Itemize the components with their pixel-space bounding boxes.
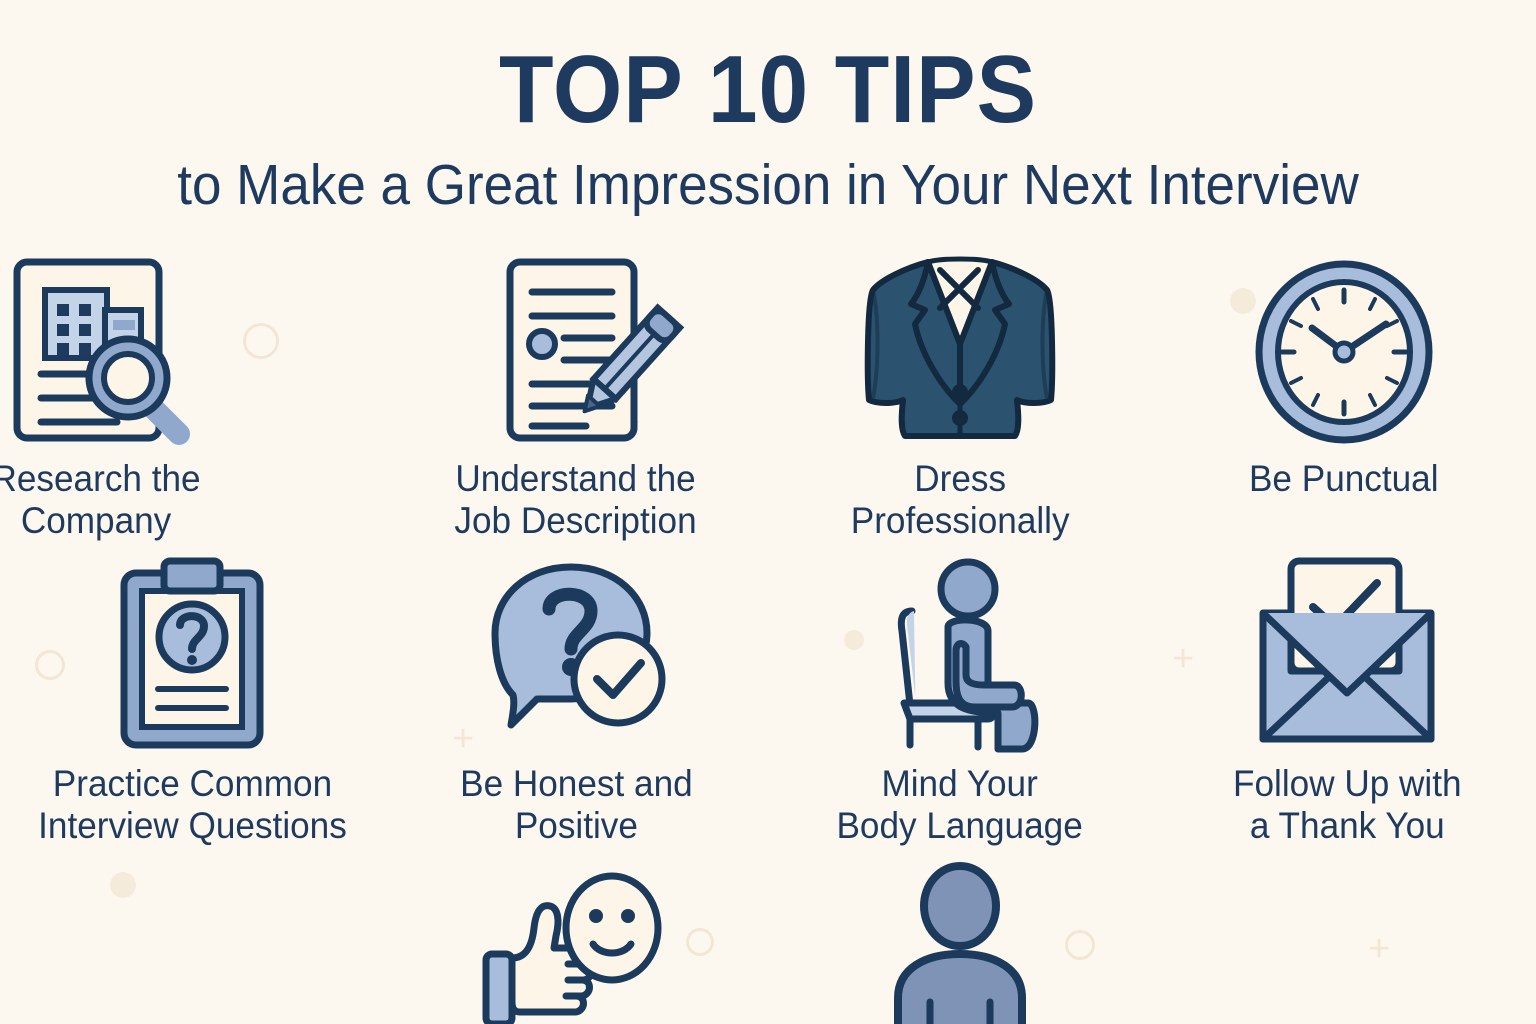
tip-item-practice-common-interview-questions[interactable]: Practice Common Interview Questions <box>0 553 384 847</box>
icon-container <box>481 553 671 753</box>
envelope-letter-check-icon <box>1249 553 1445 753</box>
tip-label: Mind Your Body Language <box>837 763 1083 847</box>
icon-container <box>870 553 1050 753</box>
document-pencil-icon <box>476 248 676 448</box>
tip-item-follow-up-with-a-thank-you[interactable]: Follow Up with a Thank You <box>1152 553 1536 847</box>
icon-container <box>1249 248 1439 448</box>
tip-label: Dress Professionally <box>851 458 1070 542</box>
page-subtitle: to Make a Great Impression in Your Next … <box>54 138 1482 216</box>
tips-row-2: Practice Common Interview Questions Be H… <box>0 553 1536 847</box>
tip-label: Understand the Job Description <box>455 458 697 542</box>
icon-container <box>476 862 676 1024</box>
icon-container <box>476 248 676 448</box>
icon-container <box>0 248 197 448</box>
tip-item-be-punctual[interactable]: Be Punctual <box>1152 248 1536 542</box>
tip-item-be-honest-and-positive[interactable]: Be Honest and Positive <box>384 553 768 847</box>
tip-item-dress-professionally[interactable]: Dress Professionally <box>768 248 1152 542</box>
page-title: TOP 10 TIPS <box>54 0 1482 138</box>
tip-item-10[interactable] <box>768 862 1152 1024</box>
tip-label: Be Punctual <box>1249 458 1439 500</box>
tip-label: Research the Company <box>0 458 201 542</box>
poster-header: TOP 10 TIPS to Make a Great Impression i… <box>0 0 1536 216</box>
person-avatar-icon <box>890 862 1030 1024</box>
speech-bubble-check-icon <box>481 553 671 753</box>
infographic-poster: + + + + TOP 10 TIPS to Make a Great Impr… <box>0 0 1536 1024</box>
tip-label: Be Honest and Positive <box>460 763 693 847</box>
tips-row-3 <box>0 862 1536 1024</box>
tip-item-research-the-company[interactable]: Research the Company <box>0 248 384 542</box>
wall-clock-icon <box>1249 248 1439 448</box>
icon-container <box>102 553 282 753</box>
icon-container <box>890 862 1030 1024</box>
icon-container <box>855 248 1065 448</box>
suit-jacket-icon <box>855 248 1065 448</box>
tip-item-9[interactable] <box>384 862 768 1024</box>
clipboard-question-icon <box>102 553 282 753</box>
document-magnifier-icon <box>0 248 197 448</box>
tip-item-understand-the-job-description[interactable]: Understand the Job Description <box>384 248 768 542</box>
tip-label: Follow Up with a Thank You <box>1233 763 1462 847</box>
tips-row-1: Research the Company <box>0 248 1536 542</box>
thumbs-up-smiley-icon <box>476 862 676 1024</box>
seated-person-icon <box>870 553 1050 753</box>
tip-item-mind-your-body-language[interactable]: Mind Your Body Language <box>768 553 1152 847</box>
icon-container <box>1249 553 1445 753</box>
tip-label: Practice Common Interview Questions <box>38 763 347 847</box>
